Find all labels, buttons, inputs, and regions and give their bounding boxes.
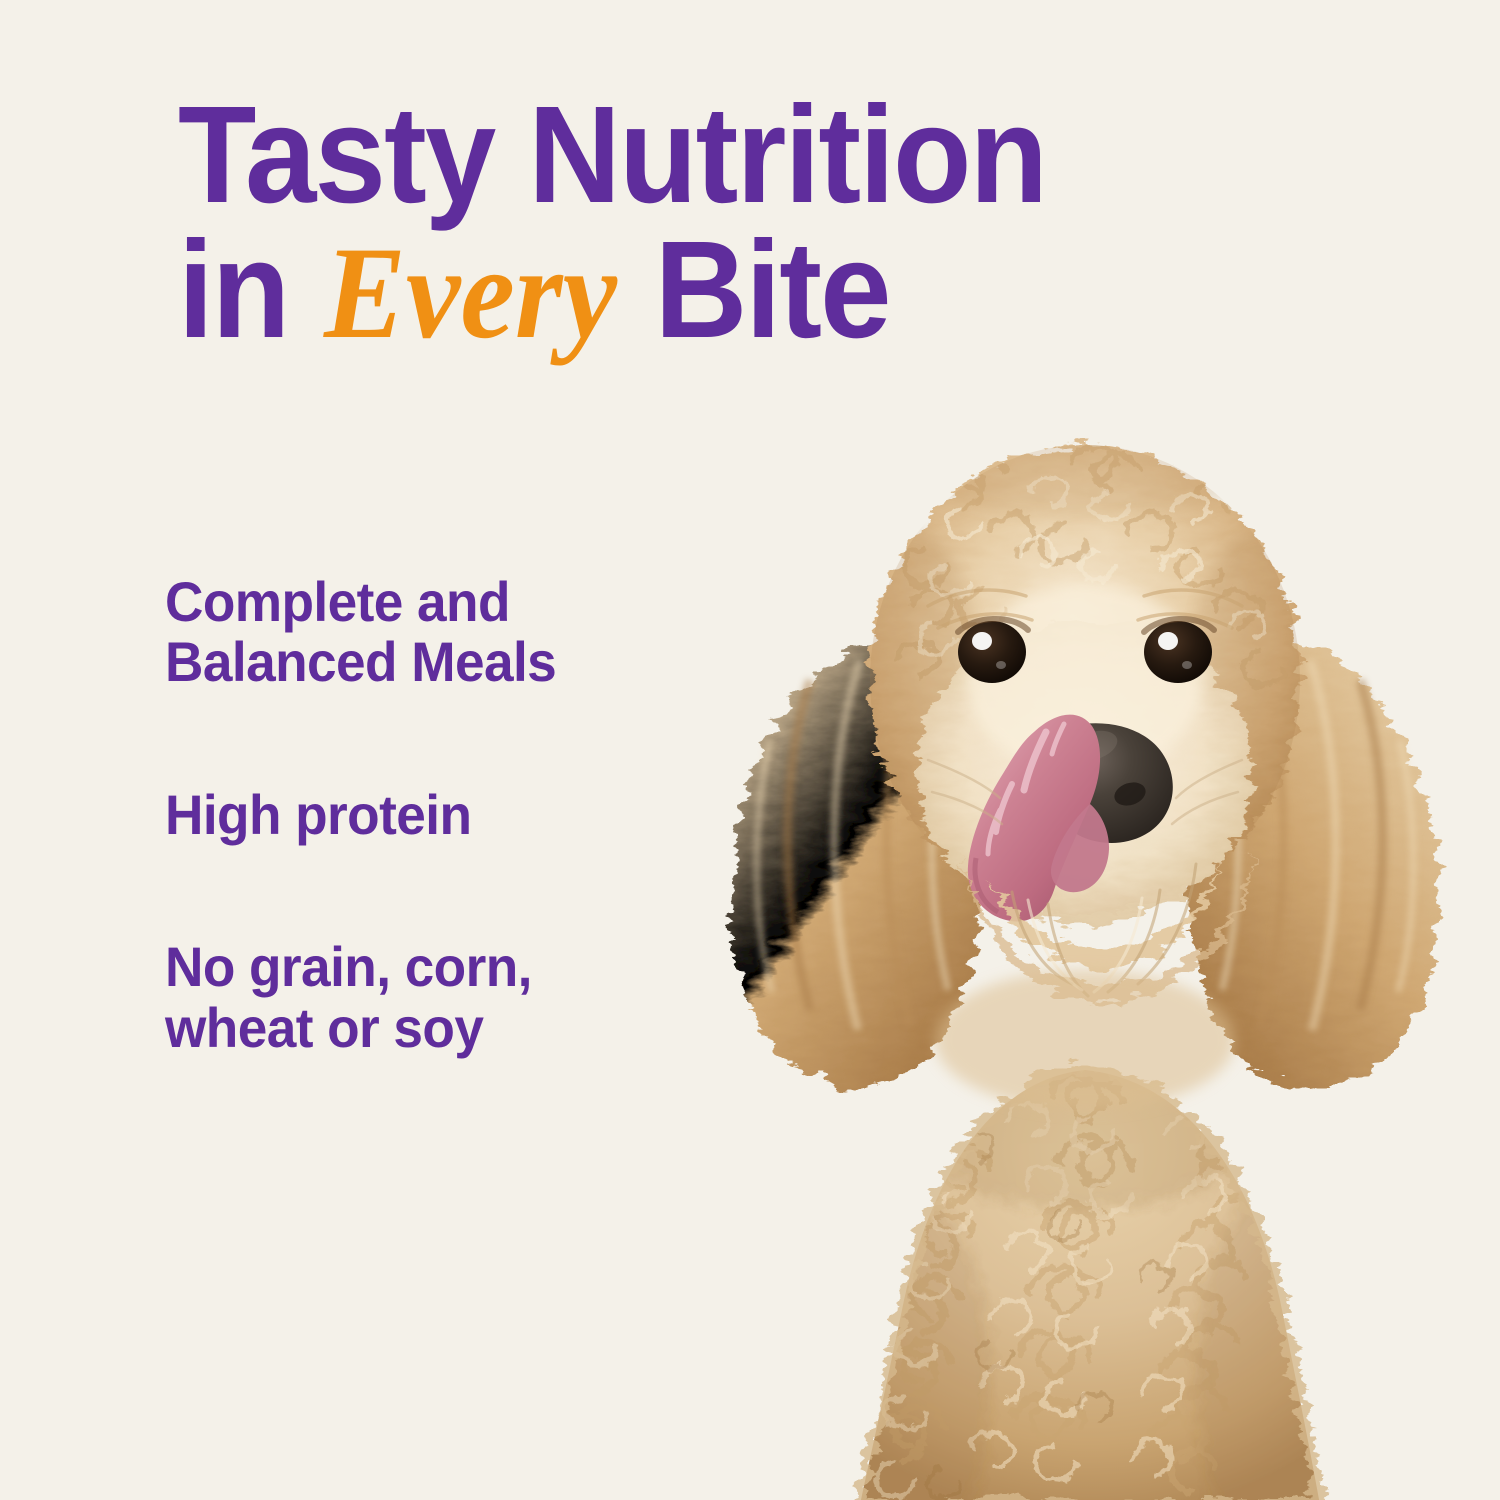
dog-body — [830, 1070, 1355, 1500]
page-title: Tasty Nutritionin Every Bite — [178, 88, 1229, 358]
headline-line-2-suffix: Bite — [621, 213, 890, 367]
benefit-item-high-protein: High protein — [165, 785, 697, 845]
ad-creative-canvas: Tasty Nutritionin Every Bite Complete an… — [0, 0, 1500, 1500]
benefit-item-no-grain: No grain, corn, wheat or soy — [165, 937, 697, 1058]
headline-line-1: Tasty Nutrition — [178, 78, 1046, 232]
benefits-list: Complete and Balanced Meals High protein… — [165, 572, 725, 1058]
dog-photo — [660, 380, 1500, 1500]
headline-emphasis-every: Every — [322, 219, 621, 366]
benefit-item-complete-balanced: Complete and Balanced Meals — [165, 572, 697, 693]
headline-line-2-prefix: in — [178, 213, 322, 367]
